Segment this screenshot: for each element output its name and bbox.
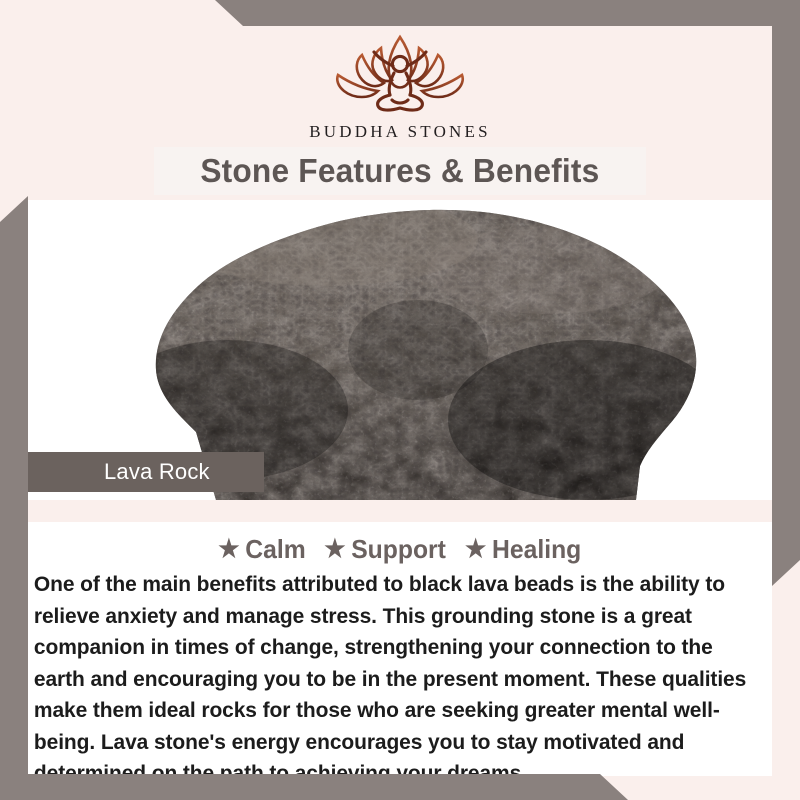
star-icon: ★ bbox=[218, 537, 239, 562]
star-icon: ★ bbox=[324, 537, 345, 562]
benefit-item: ★ Calm bbox=[218, 534, 305, 565]
benefit-item: ★ Support bbox=[324, 534, 446, 565]
frame-bottom-bar bbox=[0, 774, 628, 800]
benefit-label: Healing bbox=[492, 534, 581, 565]
page-title: Stone Features & Benefits bbox=[200, 152, 599, 190]
star-icon: ★ bbox=[465, 537, 486, 562]
benefit-label: Calm bbox=[245, 534, 305, 565]
body-paragraph: One of the main benefits attributed to b… bbox=[28, 569, 761, 776]
brand-name: BUDDHA STONES bbox=[309, 122, 491, 142]
benefit-label: Support bbox=[351, 534, 446, 565]
title-band: Stone Features & Benefits bbox=[154, 147, 646, 195]
lotus-meditation-icon bbox=[324, 31, 476, 119]
title-section: Stone Features & Benefits bbox=[28, 142, 772, 200]
content-section: ★ Calm ★ Support ★ Healing One of the ma… bbox=[28, 522, 772, 776]
benefit-item: ★ Healing bbox=[465, 534, 581, 565]
brand-logo: BUDDHA STONES bbox=[309, 31, 491, 142]
lava-rock-photo: Lava Rock bbox=[28, 200, 772, 500]
frame-left-bar bbox=[0, 196, 28, 800]
frame-right-bar bbox=[772, 0, 800, 586]
photo-caption: Lava Rock bbox=[28, 459, 210, 485]
frame-top-bar bbox=[215, 0, 800, 26]
photo-caption-bar: Lava Rock bbox=[28, 452, 264, 492]
benefits-row: ★ Calm ★ Support ★ Healing bbox=[28, 522, 772, 565]
separator-strip bbox=[28, 500, 772, 522]
info-card: BUDDHA STONES Stone Features & Benefits bbox=[28, 24, 772, 776]
brand-header: BUDDHA STONES bbox=[28, 24, 772, 142]
